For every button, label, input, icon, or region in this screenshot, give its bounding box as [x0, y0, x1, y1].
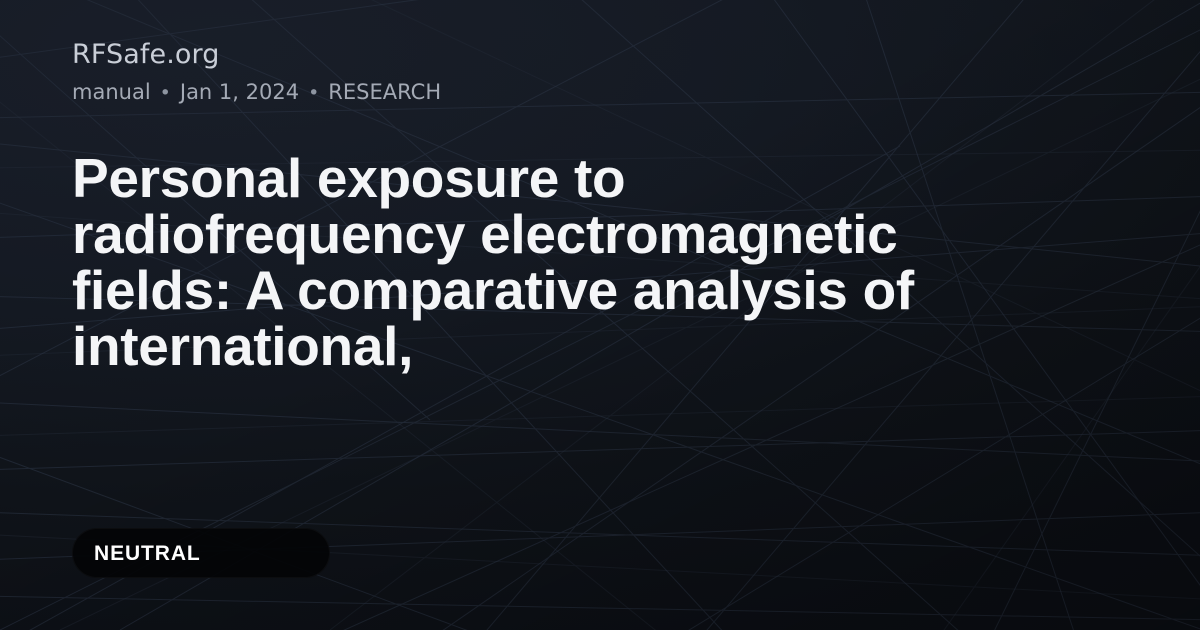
meta-separator-icon: •: [160, 81, 171, 106]
meta-separator-icon: •: [308, 81, 319, 106]
badge-row: NEUTRAL: [72, 528, 1128, 578]
meta-source: manual: [72, 79, 151, 106]
meta-date: Jan 1, 2024: [180, 79, 299, 106]
card-content: RFSafe.org manual • Jan 1, 2024 • RESEAR…: [0, 0, 1200, 630]
status-badge-label: NEUTRAL: [94, 543, 201, 564]
og-card: RFSafe.org manual • Jan 1, 2024 • RESEAR…: [0, 0, 1200, 630]
layout-spacer: [72, 374, 1128, 528]
site-name: RFSafe.org: [72, 38, 1128, 72]
meta-category: RESEARCH: [328, 79, 441, 106]
page-title: Personal exposure to radiofrequency elec…: [72, 150, 952, 374]
meta-row: manual • Jan 1, 2024 • RESEARCH: [72, 79, 1128, 106]
status-badge: NEUTRAL: [72, 528, 330, 578]
